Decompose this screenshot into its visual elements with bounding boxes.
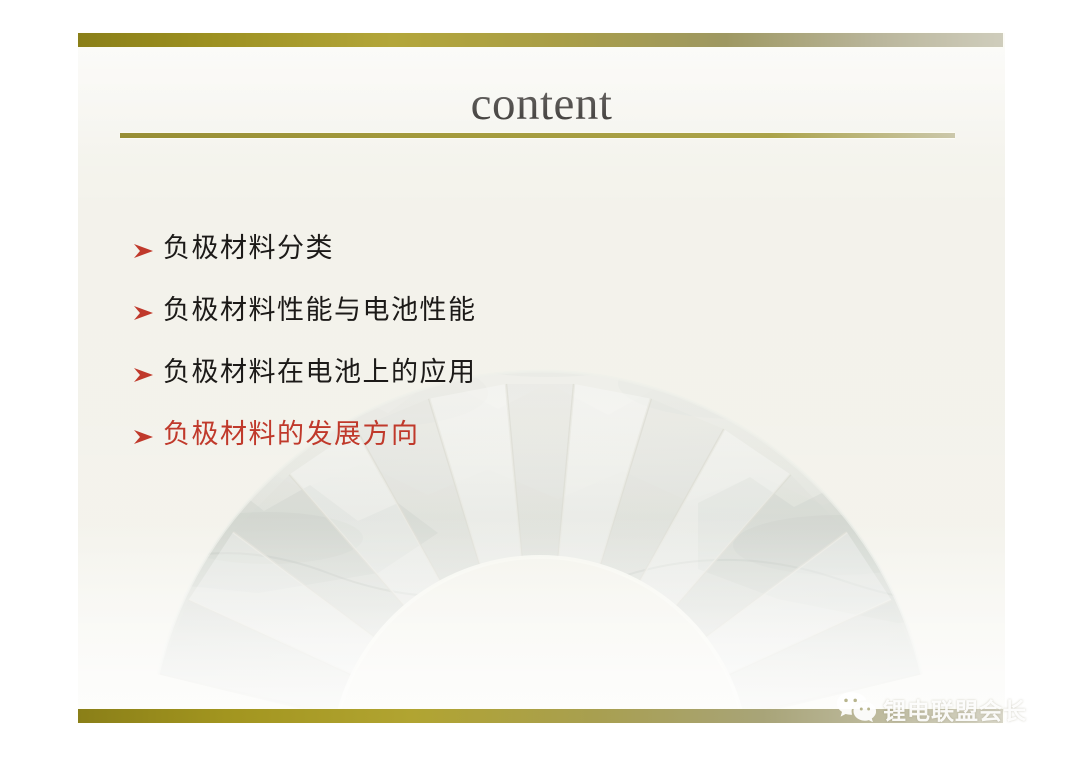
list-item[interactable]: 负极材料分类: [133, 218, 833, 280]
page-title: content: [78, 80, 1005, 129]
list-item-label: 负极材料分类: [163, 232, 334, 266]
arrow-bullet-icon: [133, 425, 163, 446]
list-item-label: 负极材料性能与电池性能: [163, 294, 477, 328]
bottom-gold-rule: [78, 709, 1003, 723]
slide-panel: content 负极材料分类 负极材料性能与电池性能: [78, 33, 1005, 722]
top-gold-rule: [78, 33, 1003, 47]
content-outline-list: 负极材料分类 负极材料性能与电池性能 负极材料在电池上的应用: [133, 218, 833, 466]
title-underline-divider: [120, 133, 955, 138]
list-item[interactable]: 负极材料性能与电池性能: [133, 280, 833, 342]
list-item-label: 负极材料的发展方向: [163, 418, 420, 452]
slide-canvas: content 负极材料分类 负极材料性能与电池性能: [0, 0, 1080, 763]
list-item[interactable]: 负极材料在电池上的应用: [133, 342, 833, 404]
arrow-bullet-icon: [133, 363, 163, 384]
arrow-bullet-icon: [133, 301, 163, 322]
arrow-bullet-icon: [133, 239, 163, 260]
list-item[interactable]: 负极材料的发展方向: [133, 404, 833, 466]
list-item-label: 负极材料在电池上的应用: [163, 356, 477, 390]
